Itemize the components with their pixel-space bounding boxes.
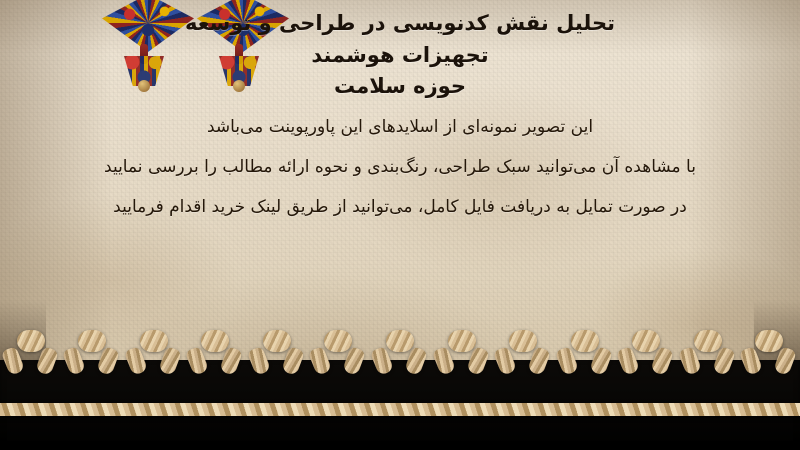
fringe-knot-ball-icon [324, 330, 352, 352]
fringe-knot-ball-icon [571, 330, 599, 352]
fringe-knot-ball-icon [694, 330, 722, 352]
fringe-knot-ball-icon [78, 330, 106, 352]
slide-body: این تصویر نمونه‌ای از اسلایدهای این پاور… [0, 110, 800, 230]
fringe-knot-ball-icon [632, 330, 660, 352]
rope-band [0, 403, 800, 416]
slide-title-line1: تحلیل نقش کدنویسی در طراحی و توسعه تجهیز… [185, 11, 615, 67]
body-line-1: این تصویر نمونه‌ای از اسلایدهای این پاور… [34, 110, 766, 144]
body-line-3: در صورت تمایل به دریافت فایل کامل، می‌تو… [34, 190, 766, 224]
slide-title: تحلیل نقش کدنویسی در طراحی و توسعه تجهیز… [0, 8, 800, 103]
fringe-knot-ball-icon [263, 330, 291, 352]
slide-canvas: تحلیل نقش کدنویسی در طراحی و توسعه تجهیز… [0, 0, 800, 450]
fringe-knot-ball-icon [448, 330, 476, 352]
fringe-knot-ball-icon [386, 330, 414, 352]
body-line-2: با مشاهده آن می‌توانید سبک طراحی، رنگ‌بن… [34, 150, 766, 184]
fringe-knot-ball-icon [509, 330, 537, 352]
fringe-knot-ball-icon [140, 330, 168, 352]
slide-title-line2: حوزه سلامت [150, 71, 650, 103]
fringe-knot-ball-icon [201, 330, 229, 352]
